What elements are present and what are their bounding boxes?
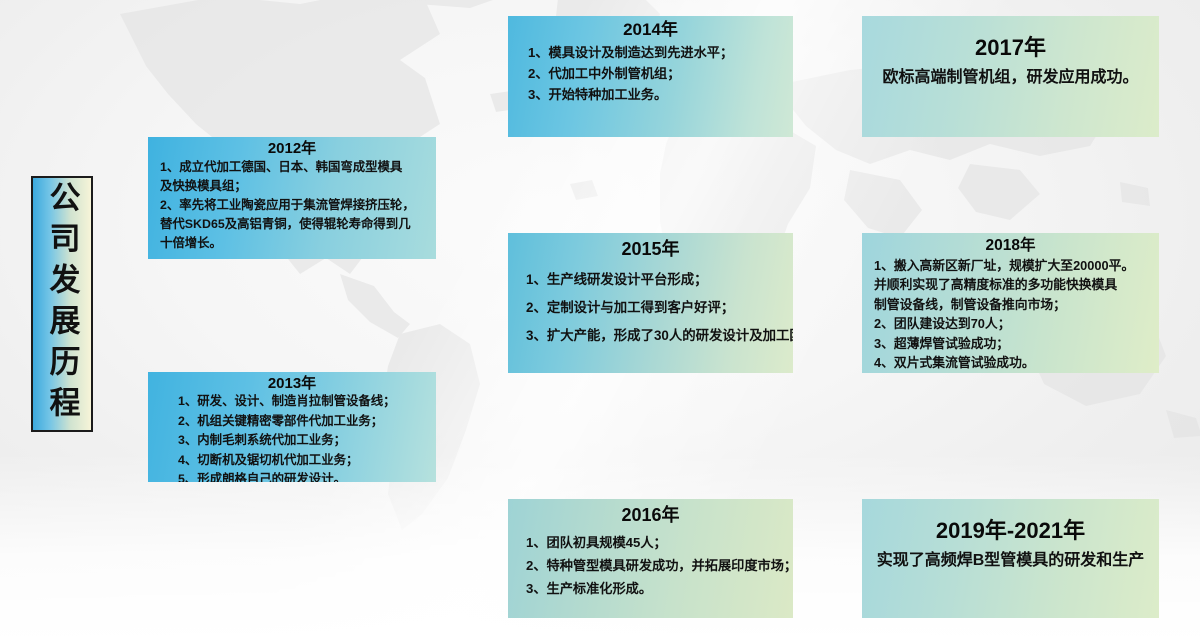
milestone-line: 1、团队初具规模45人； <box>520 531 781 554</box>
milestone-lines-2015: 1、生产线研发设计平台形成； 2、定制设计与加工得到客户好评； 3、扩大产能，形… <box>520 266 781 350</box>
milestone-lines-2012: 1、成立代加工德国、日本、韩国弯成型模具 及快换模具组； 2、率先将工业陶瓷应用… <box>160 158 424 253</box>
milestone-text-2017: 欧标高端制管机组，研发应用成功。 <box>874 67 1147 89</box>
milestone-lines-2018: 1、搬入高新区新厂址，规模扩大至20000平。 并顺利实现了高精度标准的多功能快… <box>874 256 1147 373</box>
milestone-line: 2、特种管型模具研发成功，并拓展印度市场； <box>520 554 781 577</box>
milestone-lines-2014: 1、模具设计及制造达到先进水平； 2、代加工中外制管机组； 3、开始特种加工业务… <box>520 42 781 105</box>
milestone-card-2019-2021[interactable]: 2019年-2021年 实现了高频焊B型管模具的研发和生产 <box>862 499 1159 618</box>
milestone-card-2015[interactable]: 2015年 1、生产线研发设计平台形成； 2、定制设计与加工得到客户好评； 3、… <box>508 233 793 373</box>
slide-canvas: 公司发展历程 2012年 1、成立代加工德国、日本、韩国弯成型模具 及快换模具组… <box>0 0 1200 643</box>
milestone-line: 十倍增长。 <box>160 234 424 253</box>
milestone-line: 2、代加工中外制管机组； <box>520 63 781 84</box>
milestone-card-2017[interactable]: 2017年 欧标高端制管机组，研发应用成功。 <box>862 16 1159 137</box>
milestone-text-2019-2021: 实现了高频焊B型管模具的研发和生产 <box>874 550 1147 572</box>
milestone-line: 1、生产线研发设计平台形成； <box>520 266 781 294</box>
milestone-year-2015: 2015年 <box>520 239 781 260</box>
milestone-card-2013[interactable]: 2013年 1、研发、设计、制造肖拉制管设备线； 2、机组关键精密零部件代加工业… <box>148 372 436 482</box>
milestone-line: 3、扩大产能，形成了30人的研发设计及加工团队。 <box>520 322 781 350</box>
milestone-year-2016: 2016年 <box>520 505 781 526</box>
milestone-line: 3、内制毛刺系统代加工业务； <box>160 431 424 451</box>
milestone-line: 制管设备线，制管设备推向市场； <box>874 295 1147 315</box>
milestone-year-2013: 2013年 <box>160 375 424 392</box>
milestone-line: 4、双片式集流管试验成功。 <box>874 353 1147 373</box>
milestone-line: 2、定制设计与加工得到客户好评； <box>520 294 781 322</box>
milestone-card-2016[interactable]: 2016年 1、团队初具规模45人； 2、特种管型模具研发成功，并拓展印度市场；… <box>508 499 793 618</box>
milestone-year-2017: 2017年 <box>874 35 1147 60</box>
milestone-year-2014: 2014年 <box>520 20 781 40</box>
milestone-line: 1、研发、设计、制造肖拉制管设备线； <box>160 392 424 412</box>
milestone-lines-2016: 1、团队初具规模45人； 2、特种管型模具研发成功，并拓展印度市场； 3、生产标… <box>520 531 781 600</box>
page-title: 公司发展历程 <box>31 176 93 432</box>
milestone-line: 替代SKD65及高铝青铜，使得辊轮寿命得到几 <box>160 215 424 234</box>
milestone-line: 及快换模具组； <box>160 177 424 196</box>
milestone-line: 5、形成朗格自己的研发设计。 <box>160 470 424 482</box>
milestone-line: 并顺利实现了高精度标准的多功能快换模具 <box>874 275 1147 295</box>
milestone-year-2012: 2012年 <box>160 140 424 157</box>
milestone-line: 2、机组关键精密零部件代加工业务； <box>160 412 424 432</box>
milestone-line: 2、团队建设达到70人； <box>874 314 1147 334</box>
milestone-card-2014[interactable]: 2014年 1、模具设计及制造达到先进水平； 2、代加工中外制管机组； 3、开始… <box>508 16 793 137</box>
milestone-card-2018[interactable]: 2018年 1、搬入高新区新厂址，规模扩大至20000平。 并顺利实现了高精度标… <box>862 233 1159 373</box>
milestone-card-2012[interactable]: 2012年 1、成立代加工德国、日本、韩国弯成型模具 及快换模具组； 2、率先将… <box>148 137 436 259</box>
milestone-line: 2、率先将工业陶瓷应用于集流管焊接挤压轮， <box>160 196 424 215</box>
milestone-line: 3、生产标准化形成。 <box>520 577 781 600</box>
milestone-line: 3、超薄焊管试验成功； <box>874 334 1147 354</box>
page-title-text: 公司发展历程 <box>47 181 78 427</box>
milestone-year-2018: 2018年 <box>874 237 1147 255</box>
milestone-line: 4、切断机及锯切机代加工业务； <box>160 451 424 471</box>
milestone-year-2019-2021: 2019年-2021年 <box>874 518 1147 543</box>
milestone-line: 3、开始特种加工业务。 <box>520 84 781 105</box>
milestone-line: 1、模具设计及制造达到先进水平； <box>520 42 781 63</box>
milestone-line: 1、成立代加工德国、日本、韩国弯成型模具 <box>160 158 424 177</box>
milestone-line: 1、搬入高新区新厂址，规模扩大至20000平。 <box>874 256 1147 276</box>
milestone-lines-2013: 1、研发、设计、制造肖拉制管设备线； 2、机组关键精密零部件代加工业务； 3、内… <box>160 392 424 482</box>
